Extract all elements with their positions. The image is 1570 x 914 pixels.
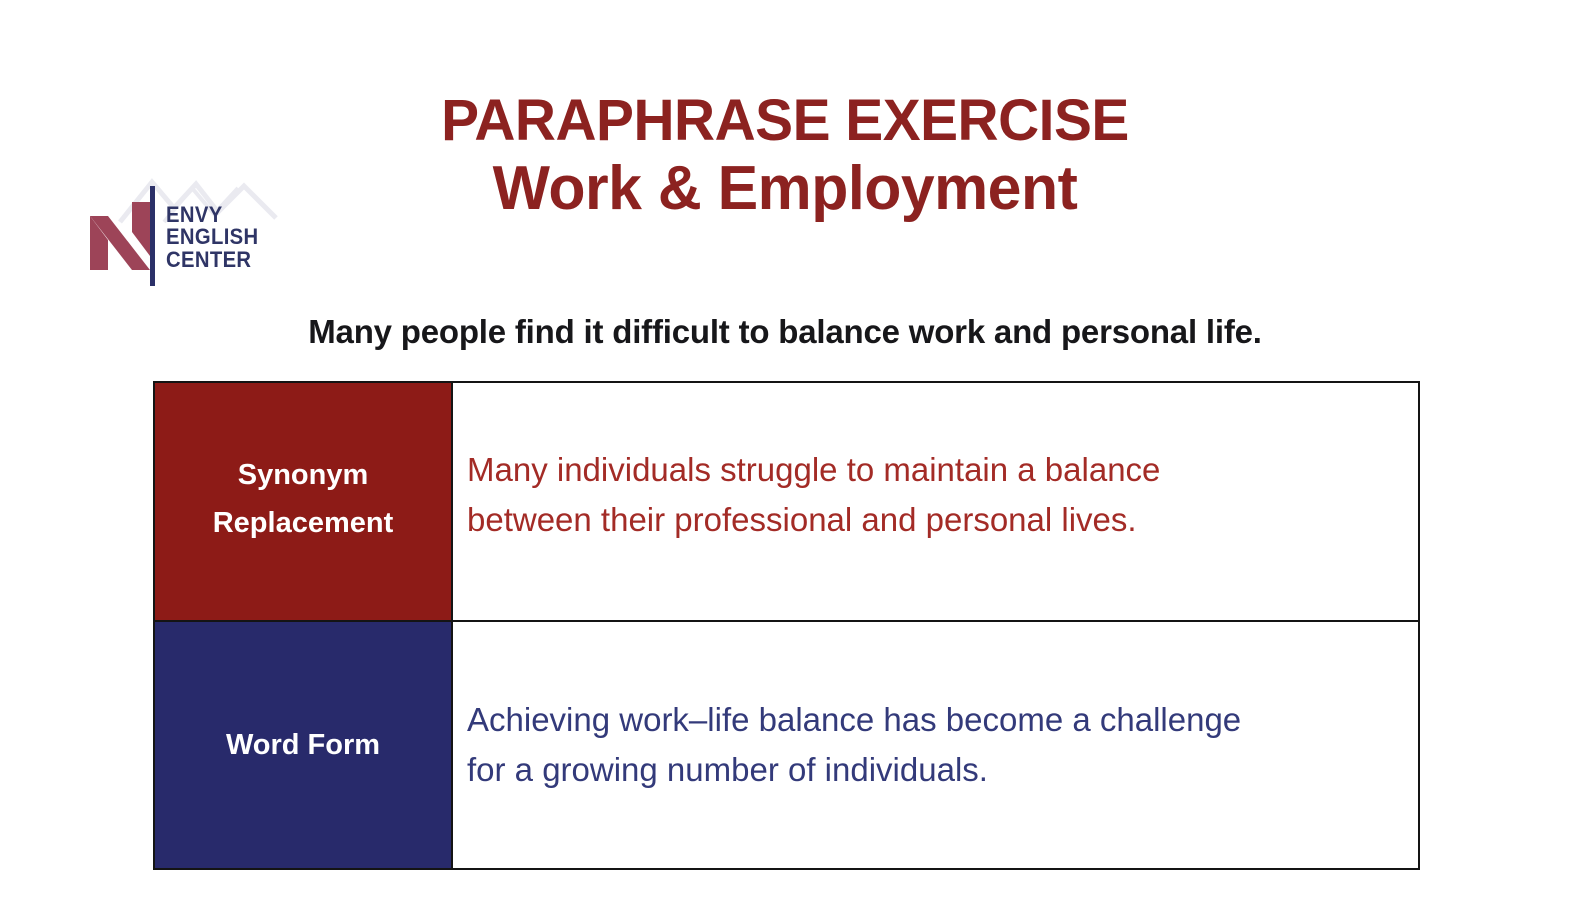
table-row: Synonym Replacement Many individuals str… (155, 383, 1418, 620)
page-title: PARAPHRASE EXERCISE Work & Employment (0, 88, 1570, 224)
row-answer-synonym-replacement: Many individuals struggle to maintain a … (453, 383, 1418, 620)
table-row: Word Form Achieving work–life balance ha… (155, 620, 1418, 868)
answer-line: Many individuals struggle to maintain a … (467, 445, 1160, 495)
logo-line-english: ENGLISH (166, 226, 259, 248)
answer-line: Achieving work–life balance has become a… (467, 695, 1241, 745)
row-label-synonym-replacement: Synonym Replacement (155, 383, 453, 620)
row-answer-word-form: Achieving work–life balance has become a… (453, 622, 1418, 868)
row-label-word-form: Word Form (155, 622, 453, 868)
logo-line-center: CENTER (166, 249, 259, 271)
answer-line: for a growing number of individuals. (467, 745, 1241, 795)
title-line-primary: PARAPHRASE EXERCISE (16, 88, 1555, 154)
title-line-secondary: Work & Employment (16, 154, 1555, 224)
paraphrase-table: Synonym Replacement Many individuals str… (153, 381, 1420, 870)
answer-line: between their professional and personal … (467, 495, 1160, 545)
source-sentence: Many people find it difficult to balance… (0, 310, 1570, 354)
slide-canvas: ENVY ENGLISH CENTER PARAPHRASE EXERCISE … (0, 0, 1570, 914)
